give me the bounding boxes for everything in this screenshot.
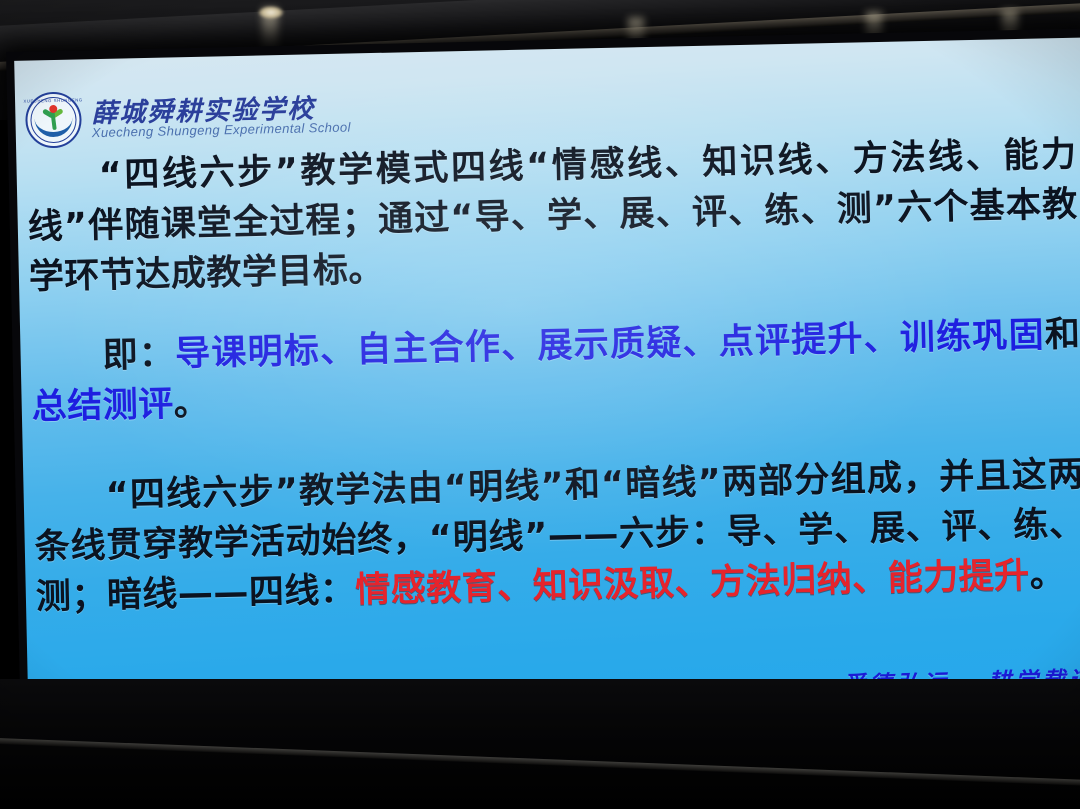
slide-body: “四线六步”教学模式四线“情感线、知识线、方法线、能力线”伴随课堂全过程；通过“… xyxy=(16,129,1080,622)
school-crest-icon: XUECHENG SHUNGENG xyxy=(25,91,82,148)
text-run-normal: 和 xyxy=(1044,315,1080,356)
paragraph-six-steps-list: 即：导课明标、自主合作、展示质疑、点评提升、训练巩固和总结测评。 xyxy=(30,310,1080,433)
photo-of-projected-slide: XUECHENG SHUNGENG 薛城舜耕实验学校 Xuecheng Shun… xyxy=(0,0,1080,809)
projection-screen: XUECHENG SHUNGENG 薛城舜耕实验学校 Xuecheng Shun… xyxy=(14,37,1080,729)
text-run-blue: 导课明标、自主合作、展示质疑、点评提升、训练巩固 xyxy=(175,315,1046,374)
stage-edge-highlight xyxy=(0,737,1080,788)
paragraph-teaching-model: “四线六步”教学模式四线“情感线、知识线、方法线、能力线”伴随课堂全过程；通过“… xyxy=(26,130,1079,303)
text-run-normal: 。 xyxy=(173,384,209,425)
ceiling-lamp-icon xyxy=(258,6,284,19)
floor-area xyxy=(0,679,1080,809)
text-run-red: 情感教育、知识汲取、方法归纳、能力提升 xyxy=(355,556,1030,611)
text-run-normal: 即： xyxy=(102,334,175,376)
paragraph-bright-and-dark-lines: “四线六步”教学法由“明线”和“暗线”两部分组成，并且这两条线贯穿教学活动始终，… xyxy=(33,450,1080,623)
text-run-normal: “四线六步”教学模式四线“情感线、知识线、方法线、能力线”伴随课堂全过程；通过“… xyxy=(27,135,1078,298)
slide-header: XUECHENG SHUNGENG 薛城舜耕实验学校 Xuecheng Shun… xyxy=(14,37,1080,122)
projection-screen-frame: XUECHENG SHUNGENG 薛城舜耕实验学校 Xuecheng Shun… xyxy=(6,28,1080,737)
text-run-blue: 总结测评 xyxy=(31,384,174,427)
text-run-normal: 。 xyxy=(1029,555,1065,596)
